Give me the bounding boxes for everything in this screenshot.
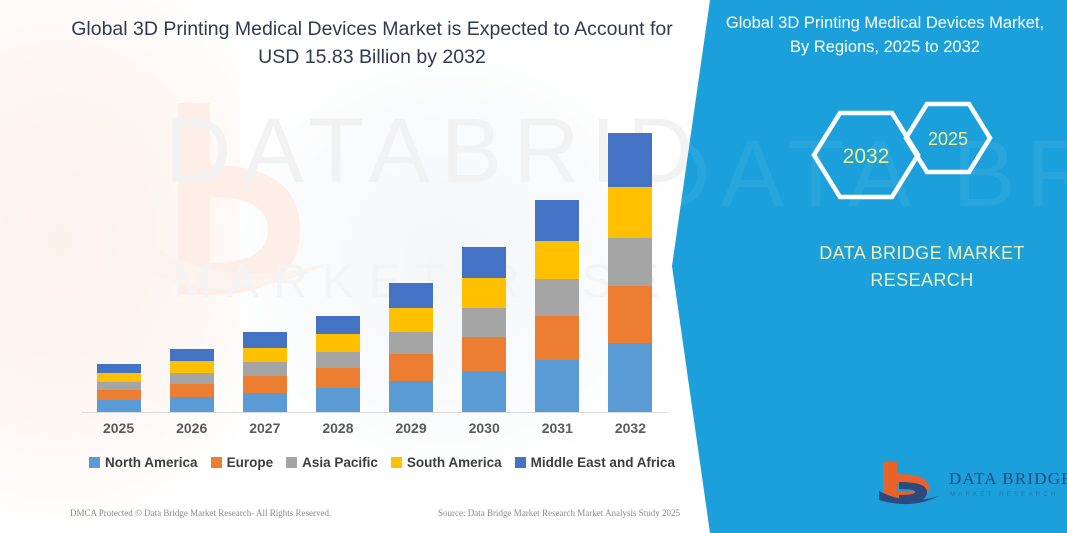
- legend-label: South America: [407, 455, 502, 470]
- right-blue-panel: DATA BRIDGE Global 3D Printing Medical D…: [672, 0, 1067, 533]
- x-axis-line: [82, 412, 667, 413]
- bar-segment-south-america: [316, 334, 360, 351]
- bar-segment-north-america: [462, 371, 506, 413]
- legend-item-asia-pacific[interactable]: Asia Pacific: [286, 455, 378, 470]
- legend-label: Middle East and Africa: [531, 455, 675, 470]
- bar-segment-middle-east-and-africa: [243, 332, 287, 348]
- legend-label: North America: [105, 455, 198, 470]
- legend-label: Europe: [227, 455, 274, 470]
- legend-item-south-america[interactable]: South America: [391, 455, 502, 470]
- chart-plot-area: [82, 100, 667, 413]
- hexagon-2025-label: 2025: [928, 129, 968, 149]
- logo-name: DATA BRIDGE: [949, 469, 1067, 488]
- bar-segment-middle-east-and-africa: [462, 247, 506, 279]
- bar-segment-south-america: [535, 241, 579, 279]
- bar-segment-north-america: [243, 393, 287, 413]
- x-axis-label-2030: 2030: [449, 420, 519, 436]
- legend-swatch-icon: [286, 457, 297, 468]
- bar-segment-asia-pacific: [243, 362, 287, 376]
- logo-mark-icon: [879, 462, 939, 504]
- x-axis-labels: 20252026202720282029203020312032: [82, 420, 667, 442]
- bar-segment-middle-east-and-africa: [316, 316, 360, 334]
- legend-swatch-icon: [211, 457, 222, 468]
- bar-2028[interactable]: [316, 316, 360, 413]
- x-axis-label-2031: 2031: [522, 420, 592, 436]
- legend-swatch-icon: [515, 457, 526, 468]
- bar-segment-north-america: [389, 381, 433, 413]
- bar-segment-middle-east-and-africa: [170, 349, 214, 361]
- hexagon-2032-icon: 2032: [814, 113, 918, 197]
- hexagon-2032-label: 2032: [843, 145, 890, 168]
- bar-segment-europe: [170, 384, 214, 397]
- data-bridge-logo: DATA BRIDGE MARKET RESEARCH: [877, 458, 1067, 510]
- bar-segment-middle-east-and-africa: [97, 364, 141, 373]
- bar-segment-south-america: [97, 373, 141, 382]
- bar-segment-south-america: [170, 361, 214, 373]
- legend-label: Asia Pacific: [302, 455, 378, 470]
- x-axis-label-2029: 2029: [376, 420, 446, 436]
- chart-legend: North AmericaEuropeAsia PacificSouth Ame…: [82, 455, 682, 470]
- panel-brand-text: DATA BRIDGE MARKET RESEARCH: [792, 240, 1052, 294]
- legend-item-europe[interactable]: Europe: [211, 455, 274, 470]
- legend-item-middle-east-and-africa[interactable]: Middle East and Africa: [515, 455, 675, 470]
- x-axis-label-2026: 2026: [157, 420, 227, 436]
- bar-2026[interactable]: [170, 349, 214, 413]
- bar-segment-europe: [316, 368, 360, 388]
- legend-swatch-icon: [89, 457, 100, 468]
- legend-swatch-icon: [391, 457, 402, 468]
- bar-segment-middle-east-and-africa: [608, 133, 652, 187]
- bar-segment-asia-pacific: [170, 373, 214, 384]
- bar-segment-middle-east-and-africa: [535, 200, 579, 241]
- footer-source: Source: Data Bridge Market Research Mark…: [438, 508, 680, 518]
- bar-segment-asia-pacific: [316, 352, 360, 369]
- bar-2029[interactable]: [389, 283, 433, 413]
- bar-segment-europe: [389, 354, 433, 381]
- bar-segment-north-america: [316, 388, 360, 413]
- x-axis-label-2032: 2032: [595, 420, 665, 436]
- bar-segment-south-america: [389, 308, 433, 331]
- infographic-canvas: DATABRIDGE MARKET RESEARCH Global 3D Pri…: [0, 0, 1067, 533]
- bar-segment-middle-east-and-africa: [389, 283, 433, 308]
- bar-segment-asia-pacific: [97, 382, 141, 390]
- x-axis-label-2027: 2027: [230, 420, 300, 436]
- bar-segment-europe: [535, 316, 579, 360]
- bar-segment-europe: [608, 286, 652, 343]
- footer-copyright: DMCA Protected © Data Bridge Market Rese…: [70, 508, 331, 518]
- bar-segment-north-america: [535, 360, 579, 413]
- bar-segment-asia-pacific: [608, 238, 652, 286]
- bar-segment-europe: [243, 376, 287, 393]
- logo-tagline: MARKET RESEARCH: [950, 491, 1058, 498]
- bar-segment-europe: [462, 337, 506, 371]
- legend-item-north-america[interactable]: North America: [89, 455, 198, 470]
- x-axis-label-2025: 2025: [84, 420, 154, 436]
- bar-segment-europe: [97, 390, 141, 400]
- bar-segment-asia-pacific: [462, 308, 506, 337]
- panel-title: Global 3D Printing Medical Devices Marke…: [720, 12, 1050, 60]
- bar-segment-asia-pacific: [389, 332, 433, 354]
- bar-2027[interactable]: [243, 332, 287, 413]
- bar-segment-north-america: [170, 397, 214, 413]
- bar-segment-asia-pacific: [535, 279, 579, 316]
- bar-segment-north-america: [608, 343, 652, 413]
- brand-line-1: DATA BRIDGE MARKET: [792, 240, 1052, 267]
- bar-2032[interactable]: [608, 133, 652, 413]
- bar-2025[interactable]: [97, 364, 141, 413]
- bar-segment-south-america: [243, 348, 287, 362]
- bar-segment-south-america: [608, 187, 652, 238]
- bar-2031[interactable]: [535, 200, 579, 413]
- footer: DMCA Protected © Data Bridge Market Rese…: [70, 508, 680, 518]
- bar-segment-south-america: [462, 278, 506, 308]
- chart-title: Global 3D Printing Medical Devices Marke…: [62, 16, 682, 71]
- hexagon-2025-icon: 2025: [906, 104, 990, 172]
- x-axis-label-2028: 2028: [303, 420, 373, 436]
- brand-line-2: RESEARCH: [792, 267, 1052, 294]
- hexagon-group: 2032 2025: [802, 100, 1032, 210]
- bar-2030[interactable]: [462, 247, 506, 413]
